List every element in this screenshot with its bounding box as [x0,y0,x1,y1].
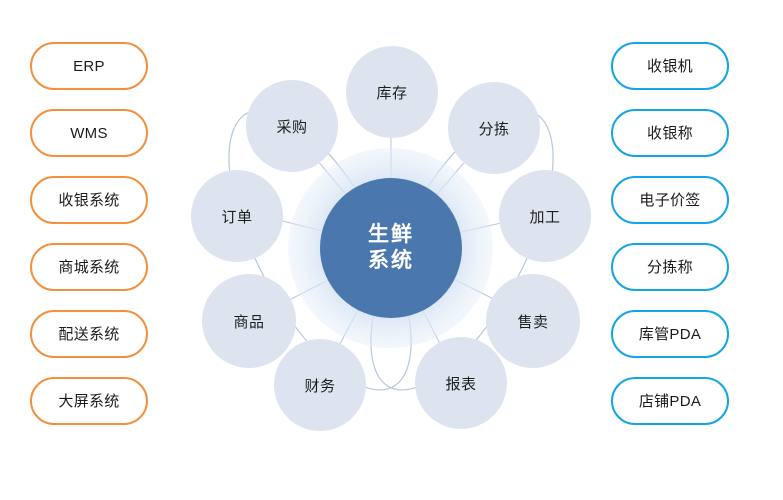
left-pill-delivery-system[interactable]: 配送系统 [30,310,148,358]
node-finance[interactable]: 财务 [274,339,366,431]
right-pill-warehouse-pda[interactable]: 库管PDA [611,310,729,358]
right-pill-label: 店铺PDA [639,394,701,409]
center-label-line2: 系统 [368,248,414,274]
diagram-canvas: ERP WMS 收银系统 商城系统 配送系统 大屏系统 收银机 收银称 电子价签… [0,0,783,500]
left-pill-wms[interactable]: WMS [30,109,148,157]
node-label: 商品 [233,311,264,332]
left-pill-label: 配送系统 [58,327,119,342]
left-pill-pos-system[interactable]: 收银系统 [30,176,148,224]
right-pill-cashier-scale[interactable]: 收银称 [611,109,729,157]
left-pill-label: 收银系统 [58,193,119,208]
right-pill-label: 分拣称 [647,260,693,275]
right-pill-sorting-scale[interactable]: 分拣称 [611,243,729,291]
left-pill-label: 商城系统 [58,260,119,275]
left-pill-erp[interactable]: ERP [30,42,148,90]
node-inventory[interactable]: 库存 [346,46,438,138]
left-pill-label: 大屏系统 [58,394,119,409]
node-label: 分拣 [478,118,509,139]
node-selling[interactable]: 售卖 [486,274,580,368]
node-label: 加工 [529,206,560,227]
left-pill-mall-system[interactable]: 商城系统 [30,243,148,291]
center-label-line1: 生鲜 [368,222,414,248]
node-label: 报表 [445,373,476,394]
hub-diagram: 库存 采购 分拣 订单 加工 商品 售卖 财务 报表 生鲜 系统 [170,18,610,448]
node-order[interactable]: 订单 [191,170,283,262]
node-label: 采购 [276,116,307,137]
left-systems-column: ERP WMS 收银系统 商城系统 配送系统 大屏系统 [30,42,150,425]
node-report[interactable]: 报表 [415,337,507,429]
left-pill-label: WMS [70,126,108,141]
left-pill-bigscreen-system[interactable]: 大屏系统 [30,377,148,425]
right-pill-cash-register[interactable]: 收银机 [611,42,729,90]
right-devices-column: 收银机 收银称 电子价签 分拣称 库管PDA 店铺PDA [611,42,731,425]
right-pill-electronic-price-tag[interactable]: 电子价签 [611,176,729,224]
node-sorting[interactable]: 分拣 [448,82,540,174]
node-label: 订单 [221,206,252,227]
center-node-fresh-system[interactable]: 生鲜 系统 [320,178,462,318]
right-pill-store-pda[interactable]: 店铺PDA [611,377,729,425]
node-purchasing[interactable]: 采购 [246,80,338,172]
right-pill-label: 收银机 [647,59,693,74]
node-processing[interactable]: 加工 [499,170,591,262]
node-product[interactable]: 商品 [202,274,296,368]
left-pill-label: ERP [73,59,105,74]
right-pill-label: 库管PDA [639,327,701,342]
node-label: 库存 [376,82,407,103]
right-pill-label: 收银称 [647,126,693,141]
node-label: 售卖 [517,311,548,332]
right-pill-label: 电子价签 [639,193,700,208]
node-label: 财务 [304,375,335,396]
